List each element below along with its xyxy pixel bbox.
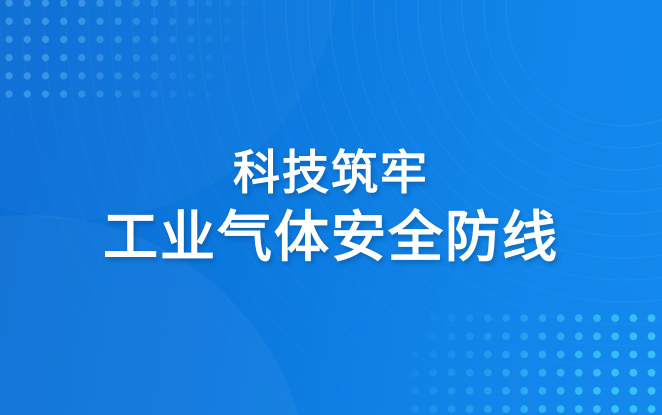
promo-banner: 科技筑牢 工业气体安全防线 bbox=[0, 0, 662, 415]
title-line-1: 科技筑牢 bbox=[233, 148, 429, 198]
headline-block: 科技筑牢 工业气体安全防线 bbox=[0, 0, 662, 415]
title-line-2: 工业气体安全防线 bbox=[103, 208, 559, 266]
